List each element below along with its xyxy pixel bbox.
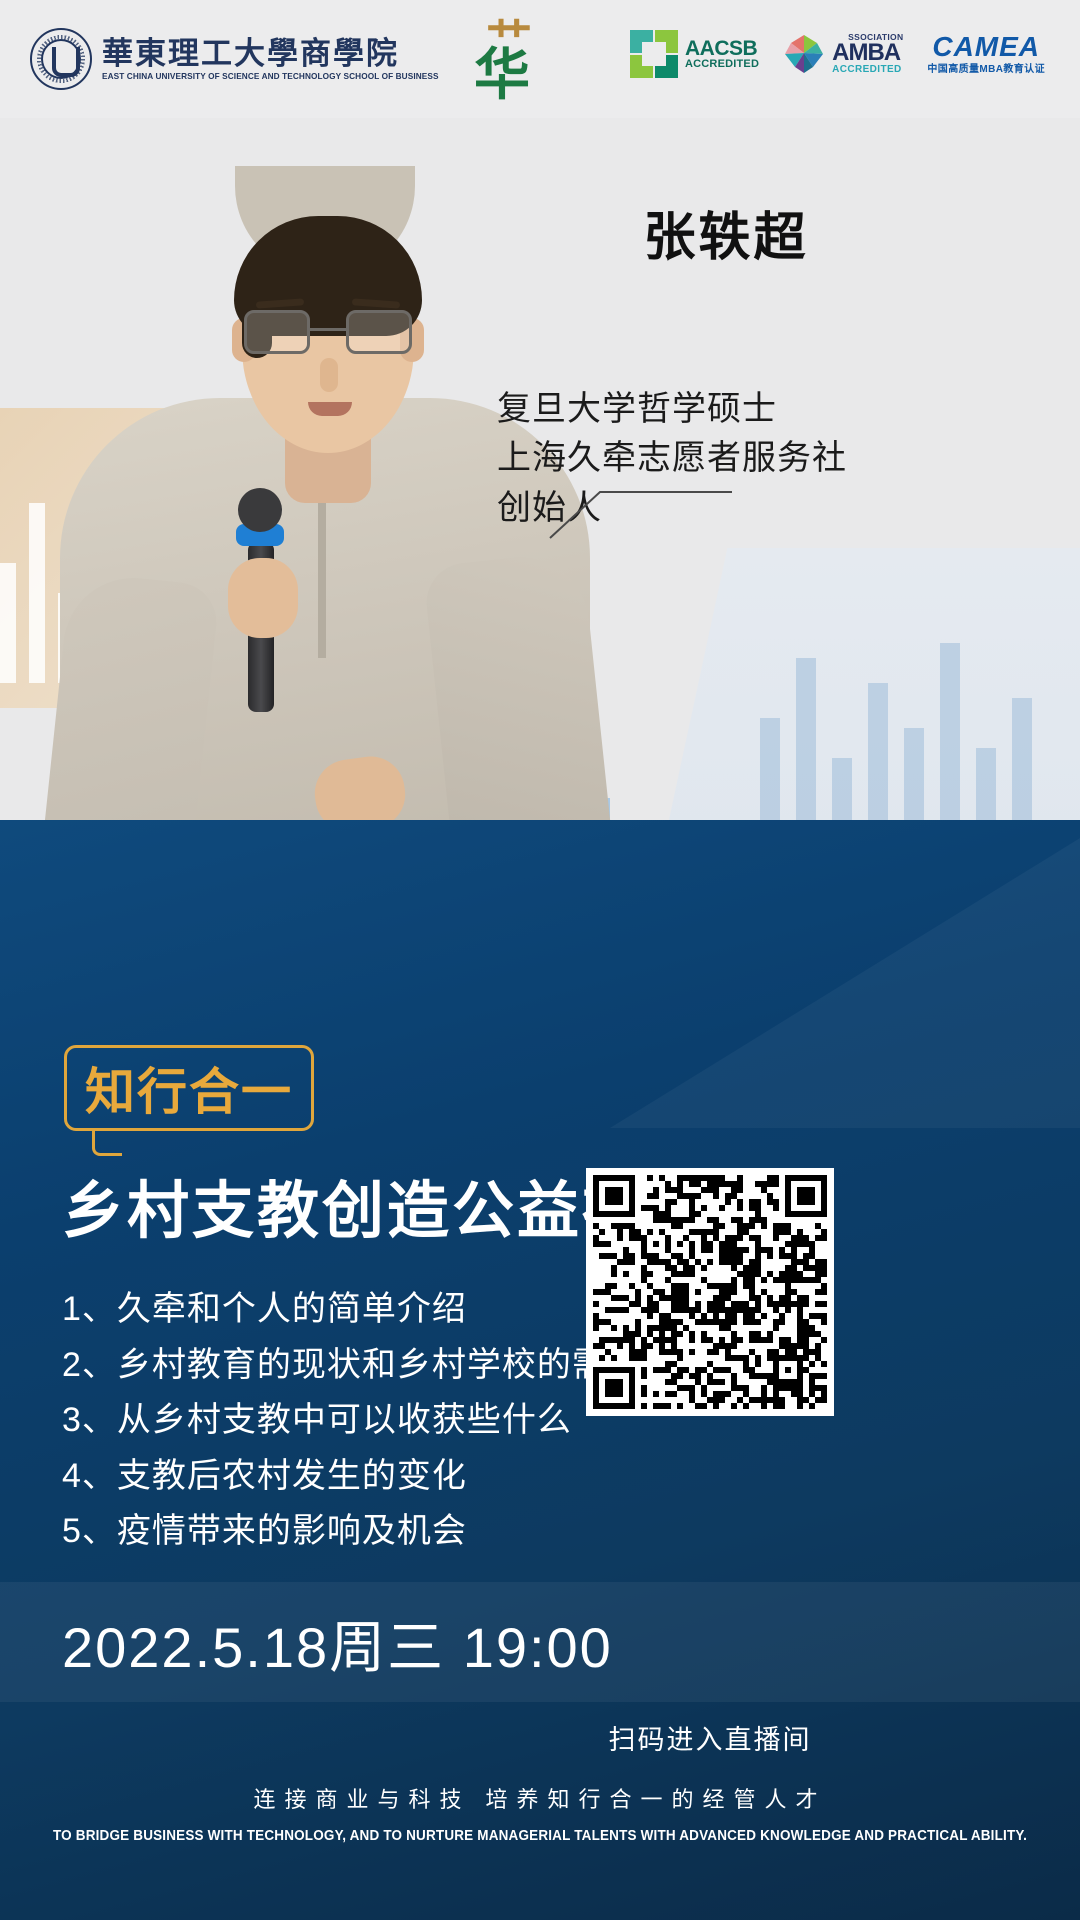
aacsb-label: AACSB xyxy=(685,38,759,59)
footer-slogan-cn: 连接商业与科技 培养知行合一的经管人才 xyxy=(0,1782,1080,1814)
speaker-portrait xyxy=(60,158,590,908)
amba-sublabel: ACCREDITED xyxy=(832,65,903,75)
event-datetime: 2022.5.18周三 19:00 xyxy=(62,1603,613,1684)
page-title: 乡村支教创造公益社会 xyxy=(62,1178,1002,1246)
university-name-en: EAST CHINA UNIVERSITY OF SCIENCE AND TEC… xyxy=(102,71,439,81)
ecust-wordmark: 華東理工大學商學院 EAST CHINA UNIVERSITY OF SCIEN… xyxy=(102,38,449,81)
speaker-name: 张轶超 xyxy=(643,195,808,270)
poster-footer: 连接商业与科技 培养知行合一的经管人才 TO BRIDGE BUSINESS W… xyxy=(0,1782,1080,1848)
qr-caption: 扫码进入直播间 xyxy=(586,1718,834,1757)
accreditation-logos: AACSB ACCREDITED SSOCIATION AMB xyxy=(630,30,1045,78)
speaker-bio-line: 复旦大学哲学硕士 xyxy=(497,385,847,434)
aacsb-logo-icon xyxy=(630,30,678,78)
theme-badge-label: 知行合一 xyxy=(85,1052,293,1124)
university-name-cn: 華東理工大學商學院 xyxy=(102,38,449,69)
qr-code-icon[interactable] xyxy=(586,1168,834,1416)
bio-underline-decor xyxy=(548,484,734,540)
camea-accreditation: CAMEA 中国高质量MBA教育认证 xyxy=(927,33,1045,75)
hua-bottom-glyph: 华 xyxy=(474,48,530,104)
speaker-bio-line: 上海久牵志愿者服务社 xyxy=(497,434,847,483)
camea-label: CAMEA xyxy=(932,33,1040,61)
footer-slogan-en: TO BRIDGE BUSINESS WITH TECHNOLOGY, AND … xyxy=(38,1826,1042,1848)
aacsb-sublabel: ACCREDITED xyxy=(685,59,759,70)
ecust-business-school-logo: 華東理工大學商學院 EAST CHINA UNIVERSITY OF SCIEN… xyxy=(30,28,449,90)
event-poster: 華東理工大學商學院 EAST CHINA UNIVERSITY OF SCIEN… xyxy=(0,0,1080,1920)
theme-badge: 知行合一 xyxy=(64,1045,314,1131)
amba-accreditation: SSOCIATION AMBA ACCREDITED xyxy=(783,33,903,76)
list-item: 5、疫情带来的影响及机会 xyxy=(62,1510,702,1554)
aacsb-accreditation: AACSB ACCREDITED xyxy=(630,30,759,78)
seal-ring-decor xyxy=(35,33,87,85)
eyeglasses-icon xyxy=(244,310,412,356)
list-item: 4、支教后农村发生的变化 xyxy=(62,1455,702,1499)
amba-logo-icon xyxy=(783,33,825,75)
amba-label: AMBA xyxy=(832,41,903,65)
badge-speech-tail xyxy=(92,1130,122,1156)
poster-header: 華東理工大學商學院 EAST CHINA UNIVERSITY OF SCIEN… xyxy=(0,0,1080,118)
camea-sublabel: 中国高质量MBA教育认证 xyxy=(927,65,1045,75)
hua-calligraphy-icon: 艹 华 xyxy=(456,14,546,106)
university-seal-icon xyxy=(30,28,92,90)
